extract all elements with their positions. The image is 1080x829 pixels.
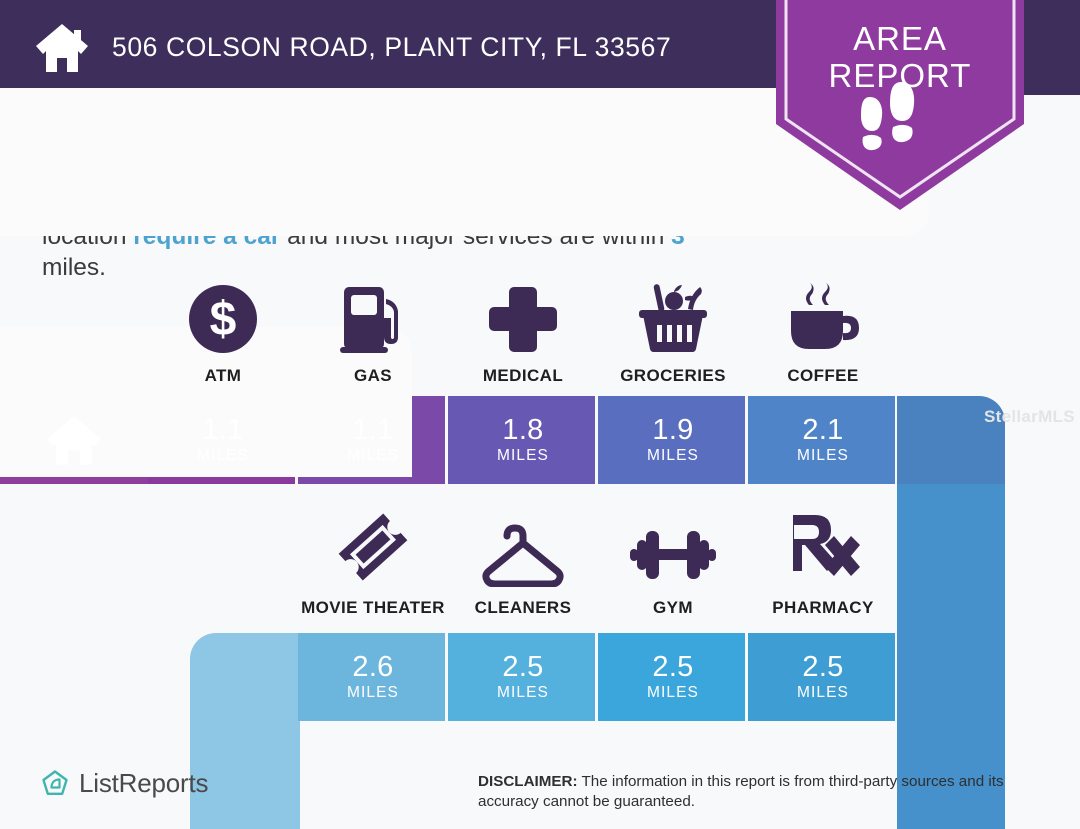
amenity-cell-gas: GAS [298, 283, 448, 386]
distance-value: 1.1 [202, 415, 243, 445]
amenity-label: CLEANERS [475, 598, 572, 618]
amenity-cell-cleaners: CLEANERS [448, 515, 598, 618]
distance-cell-row2-1: 2.5MILES [448, 633, 598, 721]
distance-unit: MILES [647, 447, 699, 465]
distance-cell-row2-3: 2.5MILES [748, 633, 898, 721]
distance-cell-row1-0: 1.1MILES [148, 396, 298, 484]
distance-value: 2.5 [802, 652, 843, 682]
distance-unit: MILES [197, 447, 249, 465]
amenity-label: PHARMACY [772, 598, 873, 618]
amenity-icon-row-2: MOVIE THEATERCLEANERSGYMPHARMACY [298, 515, 898, 618]
distance-value: 2.5 [502, 652, 543, 682]
grocery-basket-icon [633, 283, 713, 355]
rx-icon [785, 515, 861, 587]
distance-cell-row1-1: 1.1MILES [298, 396, 448, 484]
amenity-label: MOVIE THEATER [301, 598, 445, 618]
distance-unit: MILES [497, 447, 549, 465]
amenity-cell-groceries: GROCERIES [598, 283, 748, 386]
listreports-logo-text: ListReports [79, 768, 208, 799]
distance-unit: MILES [497, 684, 549, 702]
distance-value: 1.8 [502, 415, 543, 445]
distance-cell-row1-3: 1.9MILES [598, 396, 748, 484]
gas-pump-icon [338, 283, 408, 355]
amenity-cell-gym: GYM [598, 515, 748, 618]
home-icon [44, 413, 104, 467]
badge-label: AREA REPORT [770, 20, 1030, 94]
listreports-logo-icon [40, 769, 70, 799]
coffee-cup-icon [783, 283, 863, 355]
amenity-label: GROCERIES [620, 366, 726, 386]
distance-value: 2.5 [652, 652, 693, 682]
medical-cross-icon [487, 283, 559, 355]
mls-watermark: StellarMLS [984, 407, 1075, 427]
band-segment-row2-tail [190, 633, 300, 721]
property-address: 506 COLSON ROAD, PLANT CITY, FL 33567 [112, 32, 671, 63]
amenity-cell-atm: $ATM [148, 283, 298, 386]
badge-line-1: AREA [770, 20, 1030, 57]
band-segment-row2-right [897, 633, 1005, 721]
amenity-label: COFFEE [787, 366, 858, 386]
amenity-label: GYM [653, 598, 693, 618]
distance-unit: MILES [797, 684, 849, 702]
disclaimer-label: DISCLAIMER: [478, 773, 578, 790]
listreports-logo[interactable]: ListReports [40, 768, 208, 799]
distance-cell-row2-2: 2.5MILES [598, 633, 748, 721]
amenity-cell-pharmacy: PHARMACY [748, 515, 898, 618]
badge-line-2: REPORT [770, 57, 1030, 94]
distance-cell-row1-4: 2.1MILES [748, 396, 898, 484]
distance-unit: MILES [347, 684, 399, 702]
area-report-page: 506 COLSON ROAD, PLANT CITY, FL 33567 AR… [0, 0, 1080, 829]
distance-cell-row1-2: 1.8MILES [448, 396, 598, 484]
home-icon [34, 22, 90, 74]
ticket-icon [333, 515, 413, 587]
dumbbell-icon [628, 515, 718, 587]
dollar-circle-icon: $ [187, 283, 259, 355]
distance-value: 1.1 [352, 415, 393, 445]
amenity-cell-coffee: COFFEE [748, 283, 898, 386]
amenity-cell-medical: MEDICAL [448, 283, 598, 386]
amenity-label: GAS [354, 366, 392, 386]
disclaimer: DISCLAIMER: The information in this repo… [478, 772, 1058, 811]
distance-value: 1.9 [652, 415, 693, 445]
distance-unit: MILES [347, 447, 399, 465]
amenity-cell-movie-theater: MOVIE THEATER [298, 515, 448, 618]
amenity-icon-row-1: $ATMGASMEDICALGROCERIESCOFFEE [148, 283, 898, 386]
distance-cell-row2-0: 2.6MILES [298, 633, 448, 721]
distance-value: 2.1 [802, 415, 843, 445]
distance-unit: MILES [647, 684, 699, 702]
area-report-badge: AREA REPORT [770, 0, 1030, 216]
distance-unit: MILES [797, 447, 849, 465]
amenity-label: MEDICAL [483, 366, 563, 386]
home-marker-cell [0, 396, 148, 484]
distance-value: 2.6 [352, 652, 393, 682]
amenity-label: ATM [205, 366, 242, 386]
summary-part-4: miles. [42, 254, 106, 281]
svg-text:$: $ [210, 293, 237, 346]
hanger-icon [480, 515, 566, 587]
